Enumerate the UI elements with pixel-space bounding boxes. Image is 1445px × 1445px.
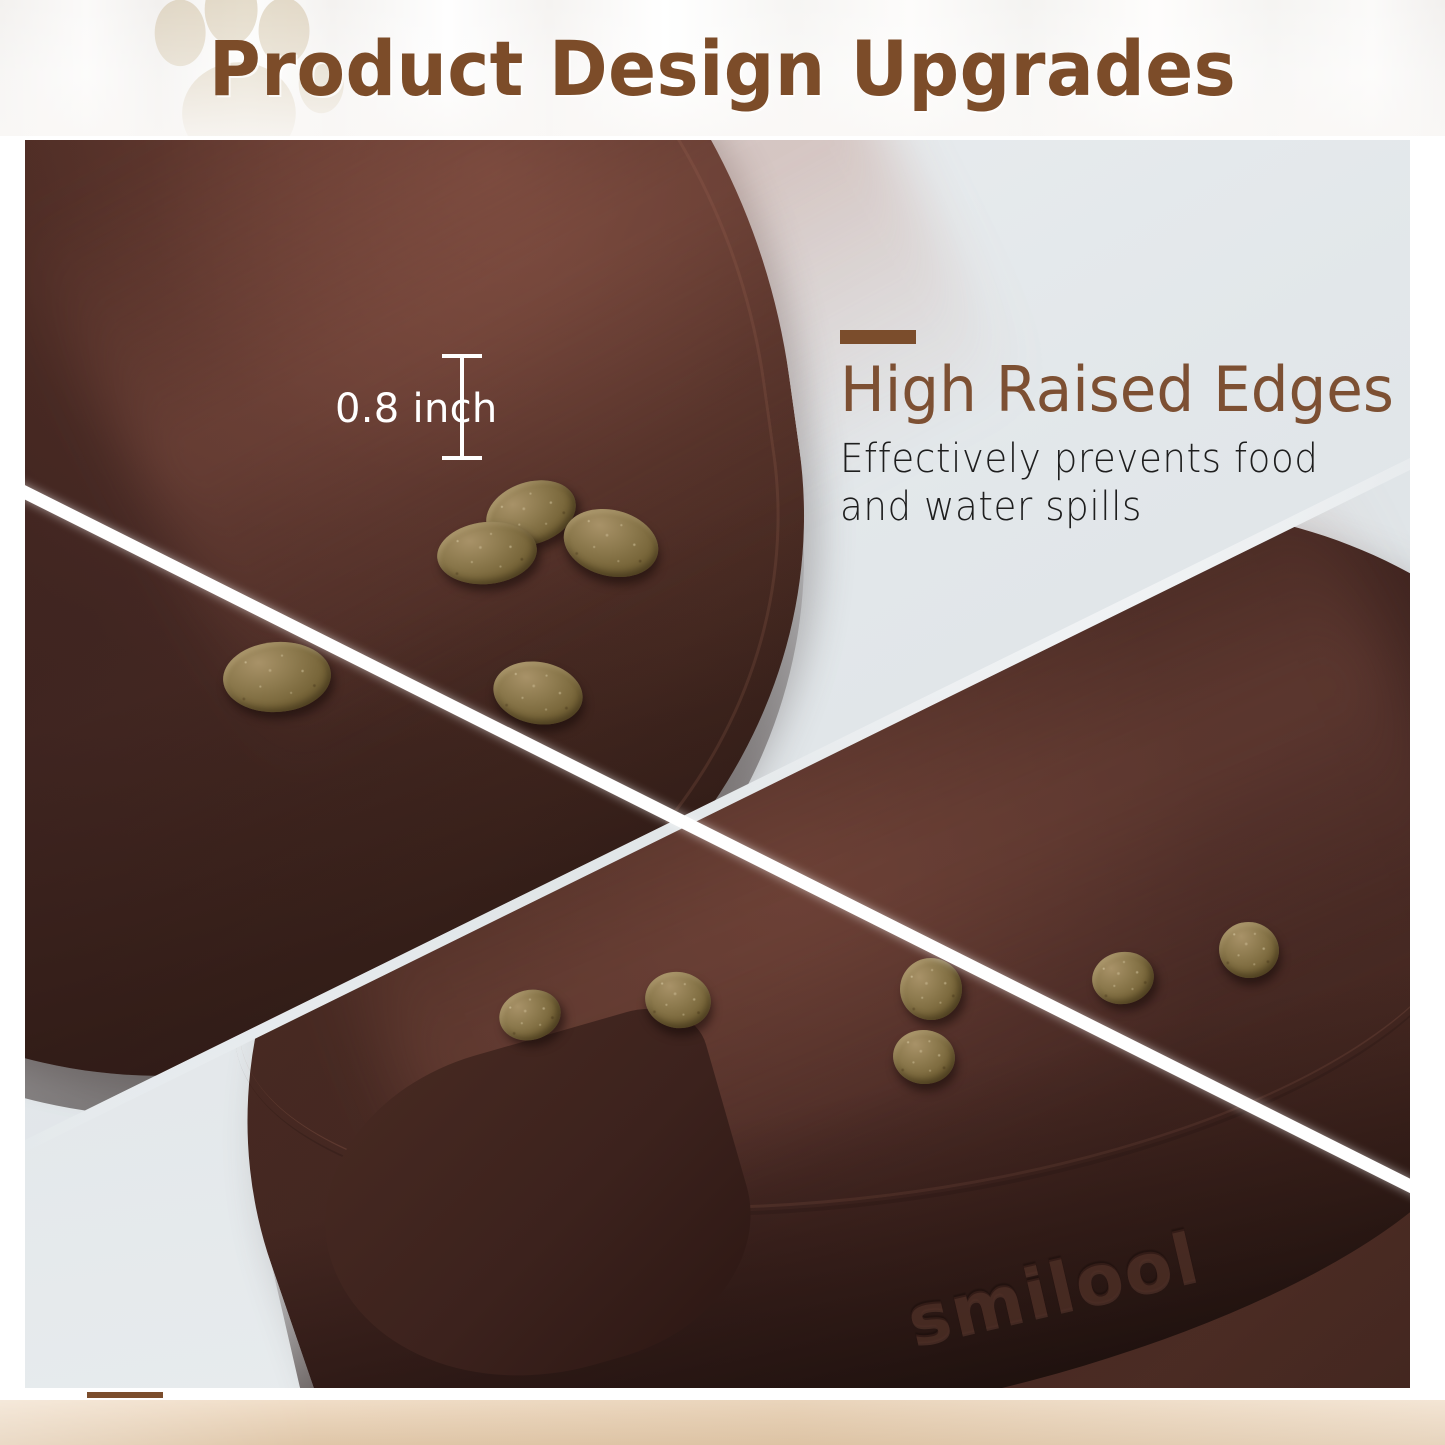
callout-accent-dash xyxy=(840,330,916,344)
callout-high-raised-edges: High Raised Edges Effectively prevents f… xyxy=(840,330,1410,531)
product-photo-collage: smilool 0.8 inch High Raised Edges Effec… xyxy=(25,140,1410,1398)
dimension-cap-top xyxy=(442,354,482,358)
callout-subtitle: Effectively prevents food and water spil… xyxy=(840,436,1377,530)
wood-floor-strip xyxy=(0,1400,1445,1445)
callout-subtitle-line-1: Effectively prevents food xyxy=(840,436,1377,483)
product-infographic-canvas: Product Design Upgrades smilool xyxy=(0,0,1445,1445)
callout-keeping-floor-clean: Keeping the floor clean Minimizes time s… xyxy=(87,1392,1135,1398)
callout-accent-dash xyxy=(87,1392,163,1398)
page-title: Product Design Upgrades xyxy=(51,0,1395,136)
header-band: Product Design Upgrades xyxy=(0,0,1445,136)
dimension-cap-bottom xyxy=(442,456,482,460)
callout-title: High Raised Edges xyxy=(840,358,1394,422)
dimension-label: 0.8 inch xyxy=(335,386,498,432)
callout-subtitle-line-2: and water spills xyxy=(840,484,1377,531)
